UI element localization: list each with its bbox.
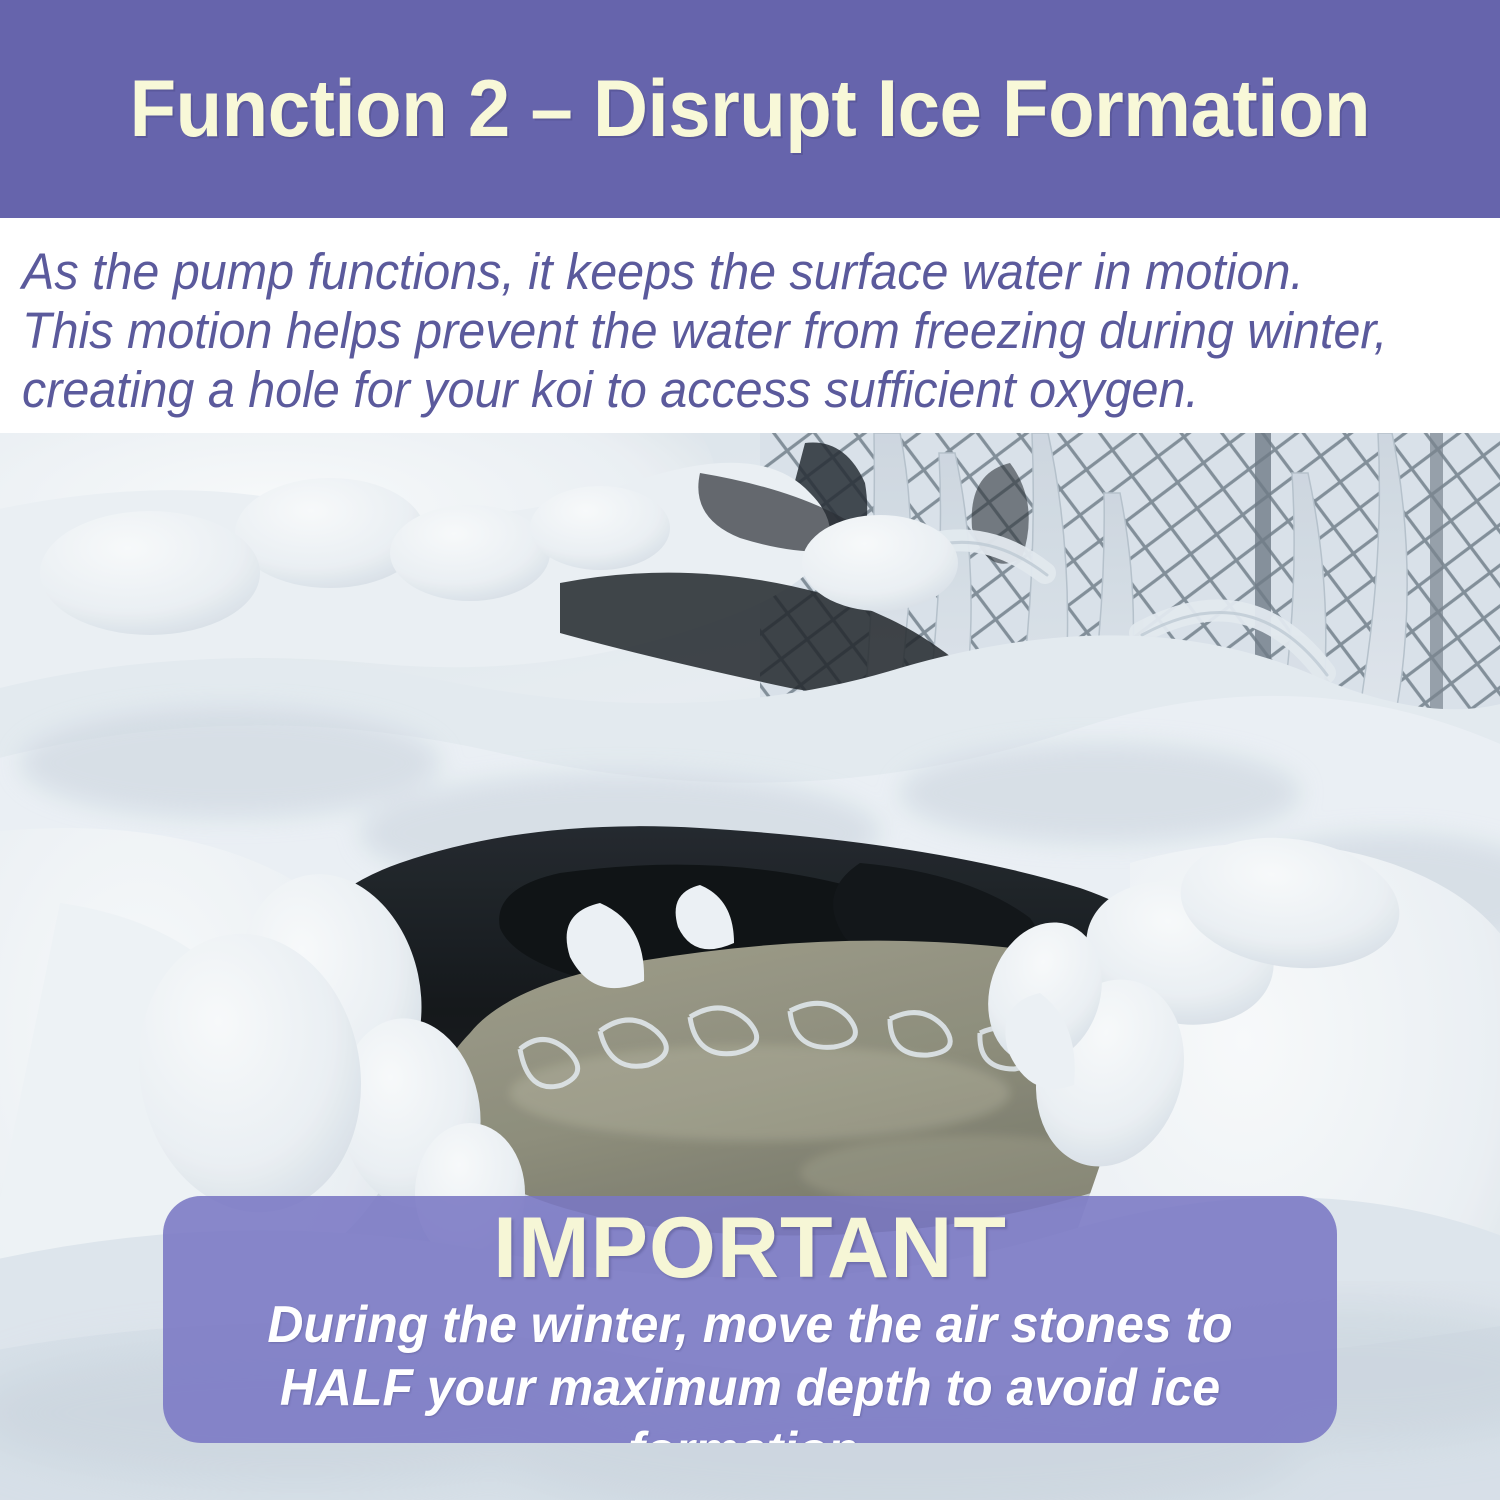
intro-line-1: As the pump functions, it keeps the surf… (22, 242, 1407, 301)
callout-title: IMPORTANT (163, 1202, 1337, 1294)
header-band: Function 2 – Disrupt Ice Formation (0, 0, 1500, 218)
page-title: Function 2 – Disrupt Ice Formation (130, 69, 1370, 150)
infographic-page: Function 2 – Disrupt Ice Formation As th… (0, 0, 1500, 1500)
intro-paragraph: As the pump functions, it keeps the surf… (0, 218, 1500, 433)
intro-line-3: creating a hole for your koi to access s… (22, 360, 1407, 419)
intro-line-2: This motion helps prevent the water from… (22, 301, 1407, 360)
callout-line-2: HALF your maximum depth to avoid ice for… (186, 1357, 1313, 1443)
callout-line-1: During the winter, move the air stones t… (186, 1294, 1313, 1357)
important-callout: IMPORTANT During the winter, move the ai… (163, 1196, 1337, 1443)
